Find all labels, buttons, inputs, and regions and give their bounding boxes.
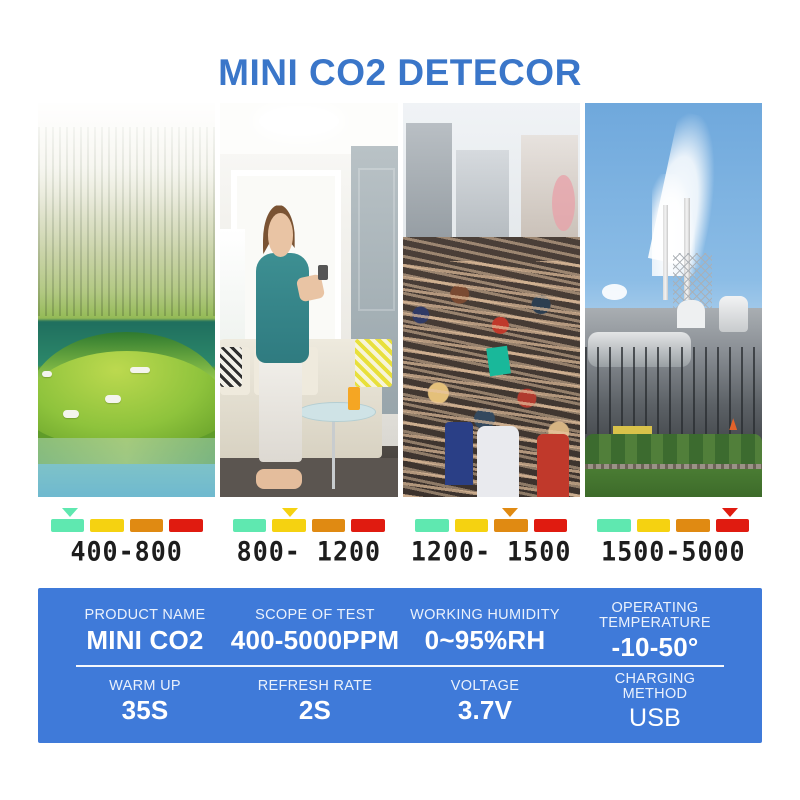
photo-strip [38, 103, 762, 497]
patterned-pillow [220, 347, 241, 386]
scale-range-label: 400-800 [70, 536, 182, 567]
scale-bar-green [233, 519, 267, 532]
marker-row [233, 507, 385, 519]
spec-label: WORKING HUMIDITY [410, 608, 560, 623]
cloud [602, 284, 627, 300]
support-lattice [585, 347, 762, 434]
juice-glass [348, 387, 360, 411]
spec-label: REFRESH RATE [258, 679, 373, 694]
scale-range-label: 1200- 1500 [411, 536, 572, 567]
marker-row [51, 507, 203, 519]
scale-bar-yellow [455, 519, 489, 532]
scale-400-800: 400-800 [38, 507, 215, 575]
sheep [42, 371, 52, 377]
rug [220, 458, 397, 497]
scale-bars [415, 519, 567, 532]
scale-bars [597, 519, 749, 532]
lawn [585, 469, 762, 497]
spec-label: WARM UP [109, 679, 181, 694]
spec-value: 35S [122, 697, 169, 724]
specification-table: PRODUCT NAME MINI CO2 SCOPE OF TEST 400-… [38, 588, 762, 743]
scale-bar-red [534, 519, 568, 532]
spec-value: MINI CO2 [86, 627, 203, 654]
scale-bar-red [351, 519, 385, 532]
pipework [677, 300, 705, 328]
scale-bar-yellow [637, 519, 671, 532]
person-white-shirt [477, 426, 520, 497]
marker-row [597, 507, 749, 519]
yellow-pillow [355, 339, 392, 386]
scale-range-label: 800- 1200 [237, 536, 381, 567]
spec-value: USB [629, 705, 681, 731]
level-marker-triangle-icon [502, 508, 518, 517]
spec-label: PRODUCT NAME [85, 608, 206, 623]
woman-top [256, 253, 309, 363]
woman-head [268, 213, 293, 256]
page-title: MINI CO2 DETECOR [0, 52, 800, 94]
scale-bars [51, 519, 203, 532]
ceiling-lamp [259, 107, 339, 135]
scale-bars [233, 519, 385, 532]
sheep [105, 395, 121, 403]
spec-label: OPERATINGTEMPERATURE [599, 601, 711, 631]
spec-cell-warm-up: WARM UP 35S [60, 671, 230, 734]
smokestack [663, 205, 668, 300]
spec-row-2: WARM UP 35S REFRESH RATE 2S VOLTAGE 3.7V… [60, 671, 740, 734]
sheep [130, 367, 150, 373]
spec-cell-voltage: VOLTAGE 3.7V [400, 671, 570, 734]
spec-value: 400-5000PPM [231, 627, 399, 654]
spec-cell-charging-method: CHARGINGMETHOD USB [570, 671, 740, 734]
photo-industrial-plant-smokestacks [585, 103, 762, 497]
marker-row [415, 507, 567, 519]
person-red-coat [537, 434, 569, 497]
table-leg [332, 418, 335, 489]
level-marker-triangle-icon [62, 508, 78, 517]
mist-overlay [38, 103, 215, 320]
scale-range-label: 1500-5000 [601, 536, 745, 567]
level-marker-triangle-icon [282, 508, 298, 517]
photo-forest-meadow-sheep-river [38, 103, 215, 497]
spec-row-1: PRODUCT NAME MINI CO2 SCOPE OF TEST 400-… [60, 600, 740, 663]
meadow-shape [38, 351, 215, 446]
photo-woman-living-room-phone [220, 103, 397, 497]
spec-label: SCOPE OF TEST [255, 608, 375, 623]
spec-cell-refresh-rate: REFRESH RATE 2S [230, 671, 400, 734]
scale-1500-5000: 1500-5000 [585, 507, 762, 575]
scale-bar-green [415, 519, 449, 532]
spec-label: VOLTAGE [451, 679, 519, 694]
photo-street-crowd-festival [403, 103, 580, 497]
spec-value: -10-50° [612, 634, 699, 661]
sheep [63, 410, 79, 418]
scale-bar-orange [676, 519, 710, 532]
woman-feet [256, 469, 302, 489]
spec-cell-product-name: PRODUCT NAME MINI CO2 [60, 600, 230, 663]
storage-drum [719, 296, 747, 331]
scale-1200-1500: 1200- 1500 [403, 507, 580, 575]
spec-value: 0~95%RH [425, 627, 546, 654]
scale-bar-yellow [272, 519, 306, 532]
river-shape [38, 438, 215, 497]
spec-cell-working-humidity: WORKING HUMIDITY 0~95%RH [400, 600, 570, 663]
spec-cell-scope-of-test: SCOPE OF TEST 400-5000PPM [230, 600, 400, 663]
row-divider [76, 665, 724, 667]
window [220, 229, 245, 355]
scale-bar-red [169, 519, 203, 532]
co2-level-scales: 400-800 800- 1200 12 [38, 507, 762, 575]
level-marker-triangle-icon [722, 508, 738, 517]
spec-value: 2S [299, 697, 331, 724]
smartphone [318, 265, 329, 281]
spec-value: 3.7V [458, 697, 512, 724]
scale-bar-orange [494, 519, 528, 532]
scale-bar-yellow [90, 519, 124, 532]
scale-800-1200: 800- 1200 [220, 507, 397, 575]
spec-cell-operating-temperature: OPERATINGTEMPERATURE -10-50° [570, 600, 740, 663]
woman-pants [259, 351, 302, 461]
scale-bar-green [597, 519, 631, 532]
scale-bar-orange [312, 519, 346, 532]
person-blue-suit [445, 422, 473, 485]
spec-label: CHARGINGMETHOD [615, 672, 696, 702]
scale-bar-orange [130, 519, 164, 532]
teal-flag [486, 346, 511, 376]
scale-bar-red [716, 519, 750, 532]
scale-bar-green [51, 519, 85, 532]
product-infographic: MINI CO2 DETECOR [0, 0, 800, 800]
